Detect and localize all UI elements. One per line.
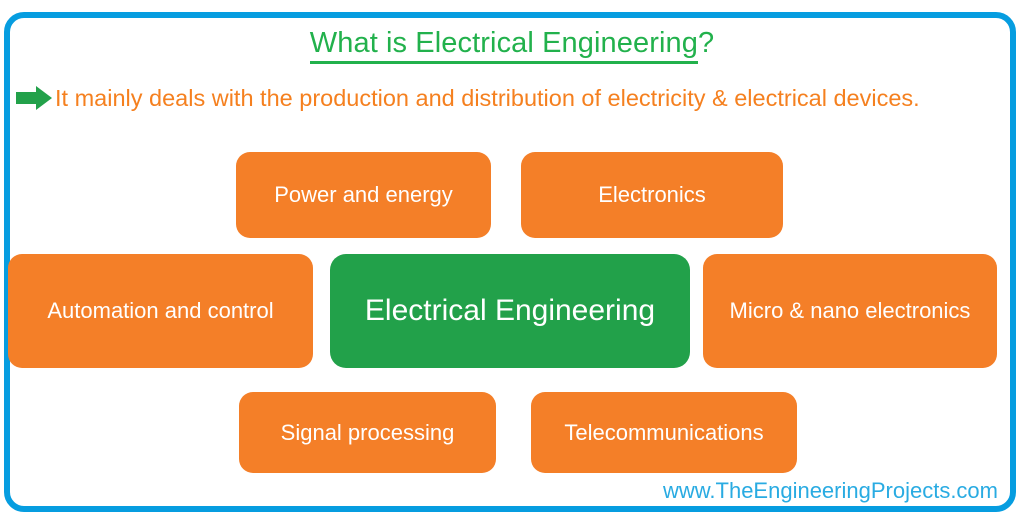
subtitle-row: It mainly deals with the production and … [14, 84, 1010, 112]
node-label: Telecommunications [564, 420, 763, 446]
page-title-underlined-part: What is Electrical Engineering [310, 27, 698, 64]
node-label: Signal processing [281, 420, 455, 446]
page-title-text: What is Electrical Engineering? [310, 26, 714, 60]
diagram-bottom-row: Signal processing Telecommunications [239, 392, 797, 473]
node-power-and-energy[interactable]: Power and energy [236, 152, 491, 238]
diagram-middle-row: Automation and control Electrical Engine… [8, 254, 997, 368]
page-title: What is Electrical Engineering? [0, 26, 1024, 60]
node-label: Power and energy [274, 182, 453, 208]
infographic-canvas: What is Electrical Engineering? It mainl… [0, 0, 1024, 521]
page-title-question-mark: ? [698, 27, 714, 59]
diagram-top-row: Power and energy Electronics [236, 152, 783, 238]
node-electronics[interactable]: Electronics [521, 152, 783, 238]
node-telecommunications[interactable]: Telecommunications [531, 392, 797, 473]
node-label: Electrical Engineering [365, 294, 655, 328]
node-label: Electronics [598, 182, 706, 208]
node-label: Automation and control [47, 298, 273, 324]
subtitle-text: It mainly deals with the production and … [55, 84, 1010, 112]
node-label: Micro & nano electronics [730, 298, 971, 324]
node-signal-processing[interactable]: Signal processing [239, 392, 496, 473]
node-micro-and-nano-electronics[interactable]: Micro & nano electronics [703, 254, 997, 368]
green-right-arrow-icon [14, 84, 54, 112]
node-automation-and-control[interactable]: Automation and control [8, 254, 313, 368]
node-electrical-engineering-center[interactable]: Electrical Engineering [330, 254, 690, 368]
footer-website-url[interactable]: www.TheEngineeringProjects.com [663, 478, 998, 504]
